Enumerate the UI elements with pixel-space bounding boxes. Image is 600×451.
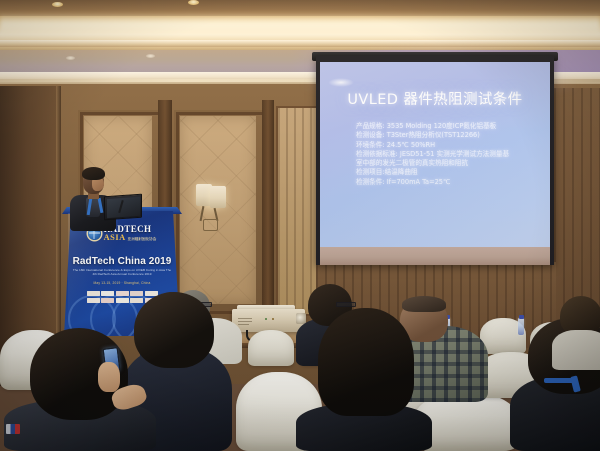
attendee-long-hair <box>318 308 414 416</box>
attendee-head <box>134 292 214 368</box>
brand-asia-cn: 亚洲辐射固化协会 <box>128 238 157 242</box>
slide-body: 产品规格: 3535 Molding 120度ICP氮化铝基板 检测设备: T3… <box>356 122 536 187</box>
speaker-hair <box>82 167 105 180</box>
sconce-base <box>203 219 218 231</box>
wall-tall-panel <box>276 106 318 316</box>
projector-power-led <box>265 318 267 320</box>
slide-line: 检测条件: If=700mA Ta=25℃ <box>356 178 536 187</box>
soffit-spotlight <box>66 56 75 60</box>
sconce-shade-right <box>210 186 226 208</box>
chair <box>248 330 294 366</box>
projector-vent <box>238 324 249 325</box>
panel-divider <box>262 100 274 318</box>
sponsor-logo <box>130 291 143 296</box>
slide-line: 环境条件: 24.5℃ 50%RH <box>356 141 536 150</box>
screen-weight-bar <box>312 263 560 268</box>
eyeglasses-icon <box>336 302 356 307</box>
ceiling-cove-light <box>0 14 600 36</box>
bottle-cap <box>519 315 524 319</box>
projector-vent <box>238 321 252 322</box>
slide-line: 检测依据标准: JESD51-51 实测光学测试方法测量基 <box>356 150 536 159</box>
attendee-shoulders <box>552 330 600 370</box>
slide-title: UVLED 器件热阻测试条件 <box>320 88 550 109</box>
water-bottle <box>518 318 524 335</box>
soffit-spotlight <box>146 54 155 58</box>
ceiling-downlight <box>52 2 63 7</box>
projection-screen-surface: UVLED 器件热阻测试条件 产品规格: 3535 Molding 120度IC… <box>320 62 550 247</box>
projector-status-led <box>272 318 274 320</box>
attendee-hair <box>402 296 446 312</box>
shoulder-flag-badge <box>6 424 20 434</box>
slide-line: 检测项目:结温降曲阻 <box>356 168 536 177</box>
conference-photo-scene: UVLED 器件热阻测试条件 产品规格: 3535 Molding 120度IC… <box>0 0 600 451</box>
slide-line: 检测设备: T3Ster热阻分析仪(TST12266) <box>356 131 536 140</box>
ceiling-downlight <box>188 0 199 5</box>
lanyard <box>544 378 574 383</box>
screen-lens-flare <box>328 78 354 87</box>
projector-vent <box>238 318 252 319</box>
hand <box>98 362 120 392</box>
slide-line: 产品规格: 3535 Molding 120度ICP氮化铝基板 <box>356 122 536 131</box>
podium-monitor <box>104 194 142 221</box>
sponsor-logo <box>130 298 143 303</box>
